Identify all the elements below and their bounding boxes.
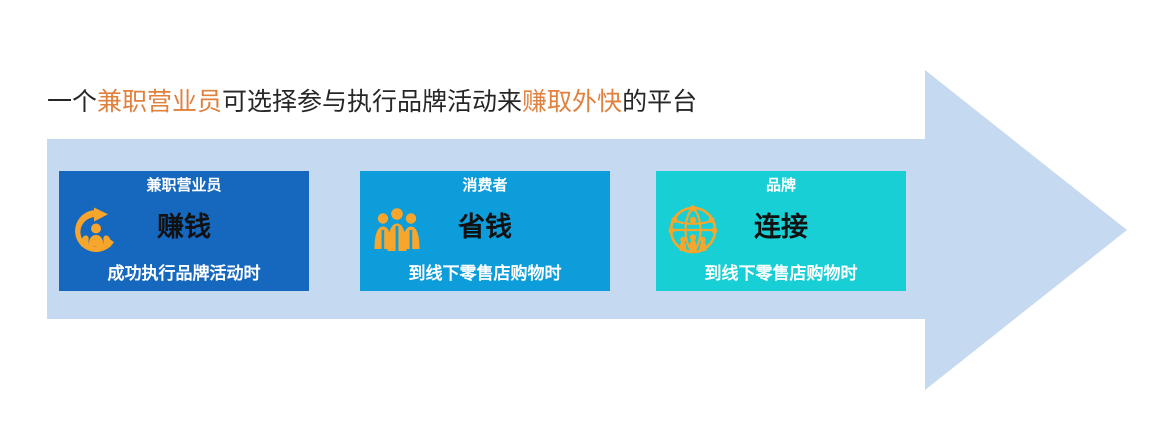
card-consumer[interactable]: 消费者 省钱 到线下零售店购物时 bbox=[360, 171, 610, 291]
title-highlight-segment: 赚取外快 bbox=[522, 89, 622, 116]
card-caption-label: 成功执行品牌活动时 bbox=[59, 262, 309, 286]
card-caption-label: 到线下零售店购物时 bbox=[360, 262, 610, 286]
title-segment: 的平台 bbox=[622, 89, 697, 116]
card-main-label: 省钱 bbox=[360, 209, 610, 245]
cards-row: 兼职营业员 赚钱 成功执行品牌活动时 消费者 省钱 bbox=[59, 171, 909, 291]
card-main-label: 赚钱 bbox=[59, 209, 309, 245]
card-caption-label: 到线下零售店购物时 bbox=[656, 262, 906, 286]
card-header-label: 兼职营业员 bbox=[59, 175, 309, 197]
card-header-label: 品牌 bbox=[656, 175, 906, 197]
card-main-label: 连接 bbox=[656, 209, 906, 245]
card-header-label: 消费者 bbox=[360, 175, 610, 197]
page-title: 一个兼职营业员可选择参与执行品牌活动来赚取外快的平台 bbox=[47, 86, 697, 120]
title-segment: 一个 bbox=[47, 89, 97, 116]
slide-canvas: 一个兼职营业员可选择参与执行品牌活动来赚取外快的平台 兼职营业员 赚钱 成功执行… bbox=[0, 0, 1150, 430]
title-highlight-segment: 兼职营业员 bbox=[97, 89, 222, 116]
title-segment: 可选择参与执行品牌活动来 bbox=[222, 89, 522, 116]
card-part-time-clerk[interactable]: 兼职营业员 赚钱 成功执行品牌活动时 bbox=[59, 171, 309, 291]
card-brand[interactable]: 品牌 连接 到线下零售店购物时 bbox=[656, 171, 906, 291]
